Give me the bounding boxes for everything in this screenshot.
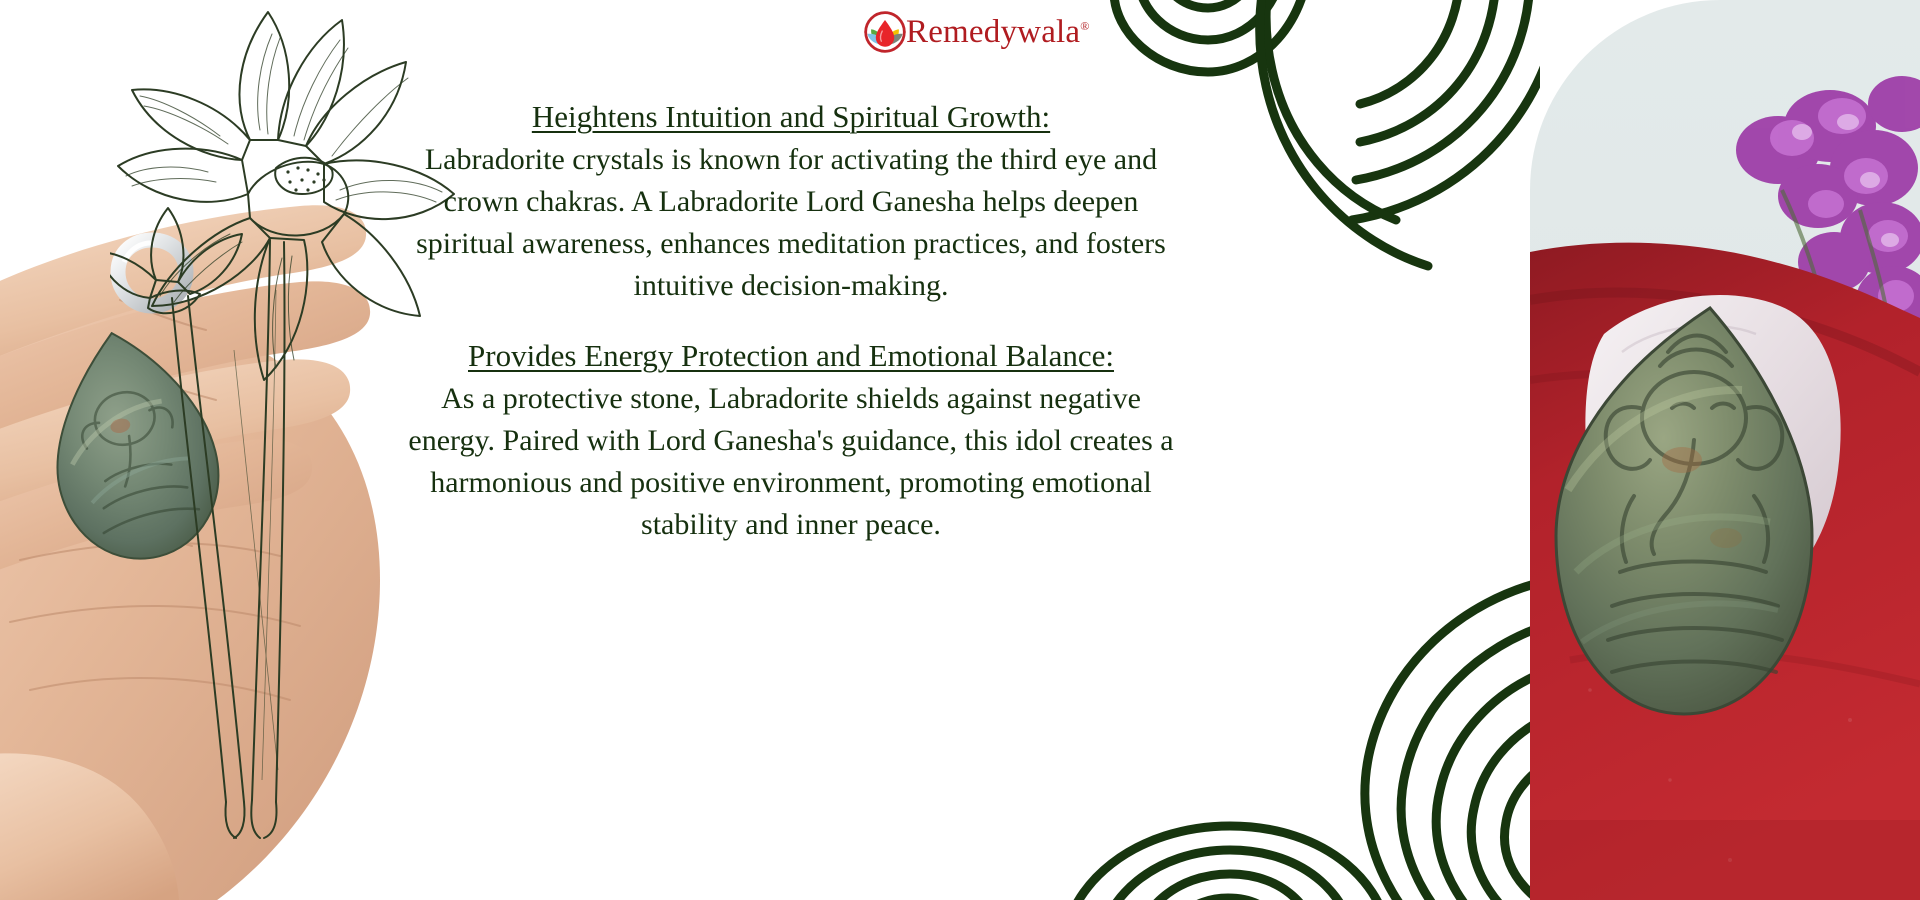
brand-name: Remedywala® [906,16,1090,49]
registered-mark: ® [1080,19,1089,33]
brand-logo[interactable]: Remedywala® [862,8,1090,56]
benefit-section-2: Provides Energy Protection and Emotional… [396,335,1186,546]
benefit-body-1: Labradorite crystals is known for activa… [396,139,1186,307]
benefit-body-2: As a protective stone, Labradorite shiel… [396,378,1186,546]
lotus-droplet-logo-icon [862,9,908,55]
poster-canvas: Remedywala® [0,0,1920,900]
labradorite-ganesha-product-photo [1530,0,1920,900]
concentric-spiral-decor-icon [1030,570,1550,900]
brand-name-text: Remedywala [906,14,1080,50]
benefit-heading-2: Provides Energy Protection and Emotional… [468,335,1114,378]
description-content: Heightens Intuition and Spiritual Growth… [396,96,1186,558]
benefit-section-1: Heightens Intuition and Spiritual Growth… [396,96,1186,307]
benefit-heading-1: Heightens Intuition and Spiritual Growth… [532,96,1050,139]
